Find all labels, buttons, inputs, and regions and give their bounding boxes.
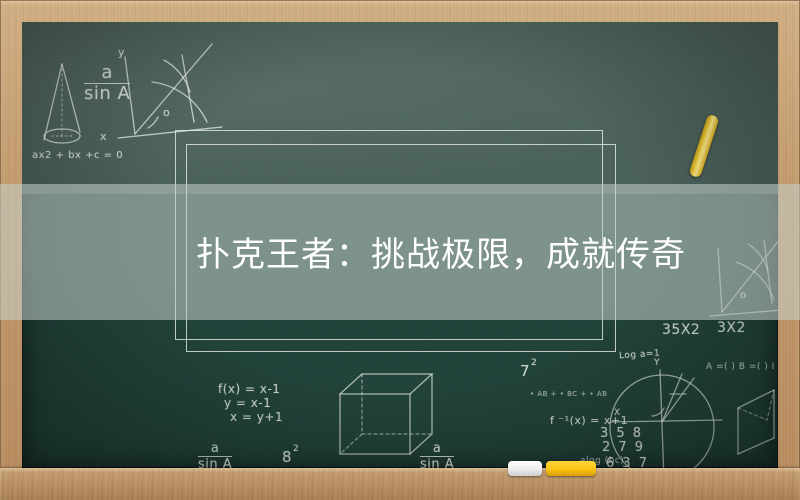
chalk-product-3x2: 3X2 <box>717 320 746 336</box>
unit-circle-angle-mark <box>652 408 664 416</box>
chalk-function-x: x = y+1 <box>230 410 283 424</box>
cube-right-face <box>410 374 432 454</box>
chalk-circle-axis-y: Y <box>654 358 660 368</box>
chalk-fraction-a-sin-a-left: a sin A <box>198 442 232 468</box>
chalk-power-seven-exponent: 2 <box>531 358 537 368</box>
chalk-inverse-function: f ⁻¹(x) = x+1 <box>550 414 628 427</box>
unit-circle <box>610 375 714 468</box>
yellow-chalk-piece <box>546 461 596 476</box>
chalk-power-seven: 7 <box>520 362 530 380</box>
cube-hidden-diagonal <box>340 434 362 454</box>
cube-front-face <box>340 394 410 454</box>
chalk-ledge <box>0 468 800 500</box>
cube2-edge-top <box>738 390 774 408</box>
unit-circle-x-axis <box>610 420 722 422</box>
chalk-log-a: Log a=1 <box>619 349 661 362</box>
cube2-edge-bottom <box>738 438 774 454</box>
chalk-arithmetic-minuend: 3 5 8 <box>600 426 643 441</box>
chalk-matrix-row: A =( ) B =( ) I =( ) <box>706 362 778 372</box>
chalk-product-35x2: 35X2 <box>662 322 700 338</box>
chalk-vector-sum: • AB + • BC + • AB <box>530 390 607 398</box>
cube-hidden-edges <box>362 374 432 434</box>
blackboard-banner: a sin A ax2 + bx +c = 0 y x o f(x) = x-1… <box>0 0 800 500</box>
chalk-power-eight: 8 <box>282 448 292 466</box>
white-chalk-piece <box>508 461 542 476</box>
page-title: 扑克王者：挑战极限，成就传奇 <box>196 232 636 278</box>
cube-top-face <box>340 374 432 394</box>
chalk-fraction-a-sin-a-mid: a sin A <box>420 442 454 468</box>
unit-circle-y-axis <box>660 370 664 468</box>
chalk-function-y: y = x-1 <box>224 396 271 410</box>
unit-circle-radius-b <box>662 374 682 422</box>
chalk-arithmetic-result: 6 3 7 <box>606 456 649 468</box>
chalk-power-eight-exponent: 2 <box>293 444 299 454</box>
cube2-hidden <box>738 390 774 420</box>
chalk-circle-axis-x: X <box>614 408 621 418</box>
chalk-arithmetic-subtrahend: 2 7 9 <box>602 440 645 455</box>
chalk-function-fx: f(x) = x-1 <box>218 382 280 396</box>
unit-circle-radius-a <box>662 378 694 422</box>
